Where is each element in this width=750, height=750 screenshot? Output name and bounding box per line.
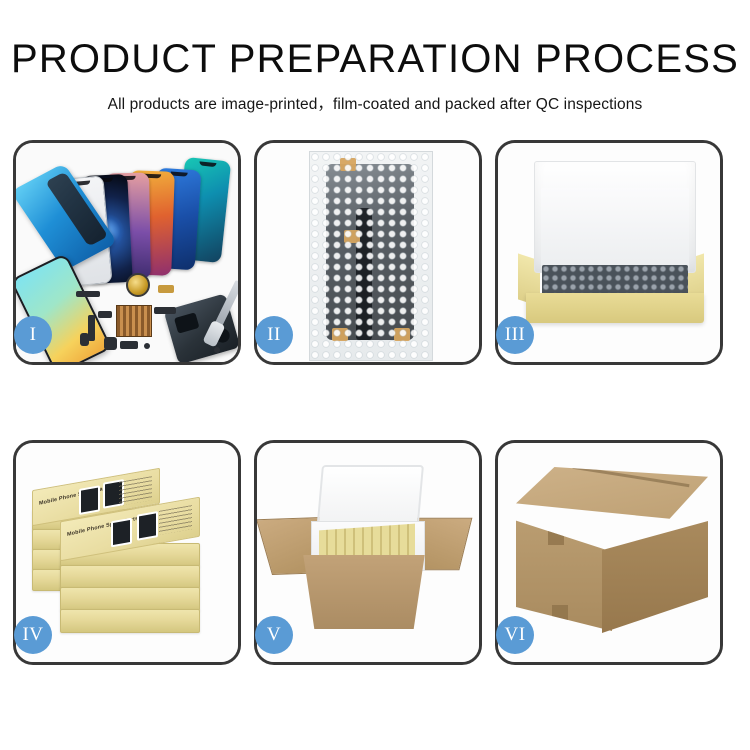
sealed-carton-group [516,467,708,639]
part-flex-cable [154,307,176,314]
open-box-group [512,161,708,339]
stacked-box [60,609,200,633]
box-product-thumbnail [111,518,132,548]
part-small-screw [214,347,220,353]
process-step-panel-1[interactable]: I [13,140,241,365]
step-badge-4: IV [14,616,52,654]
part-connector [76,291,100,297]
part-flex-cable [88,315,95,341]
part-flex-cable [98,311,112,318]
step-badge-6: VI [496,616,534,654]
stacked-box [60,587,200,611]
spare-parts-group [74,271,238,362]
yellow-box-front [526,293,704,323]
carton-left-face [516,511,612,631]
carton-seam [572,466,689,487]
header: PRODUCT PREPARATION PROCESS All products… [0,0,750,114]
speaker-coil-icon [126,273,150,297]
part-gold-contact [158,285,174,293]
process-panel-grid: I II II [13,140,737,668]
box-product-thumbnail [79,485,100,515]
box-spec-lines [119,476,152,506]
phone-notch-icon [199,161,216,167]
bubble-texture [310,152,432,360]
carton-tape-upper [548,525,564,545]
chip-grid-icon [116,305,152,337]
box-spec-lines [159,505,192,535]
step-badge-3: III [496,316,534,354]
process-step-panel-4[interactable]: Mobile Phone Spare Parts Mobile Phone Sp… [13,440,241,665]
carton-top-face [516,467,708,537]
stacked-box [60,565,200,589]
part-camera-module [104,337,117,350]
bubble-wrap-bag [309,151,433,361]
page-title: PRODUCT PREPARATION PROCESS [0,38,750,80]
box-stack-group: Mobile Phone Spare Parts Mobile Phone Sp… [32,465,228,645]
carton-body [295,555,433,629]
box-product-thumbnail [137,511,158,541]
carton-with-foam-group [267,459,471,645]
carton-right-face [602,521,708,633]
page-subtitle: All products are image-printed，film-coat… [0,92,750,114]
part-antenna-strip [120,341,138,349]
step-badge-1: I [14,316,52,354]
carton-tape-lower [552,605,568,625]
process-step-panel-6[interactable]: VI [495,440,723,665]
process-step-panel-2[interactable]: II [254,140,482,365]
part-small-screw [144,343,150,349]
white-foam-lid [534,161,696,273]
bubble-wrapped-contents [542,265,688,295]
part-button [80,333,89,346]
step-badge-5: V [255,616,293,654]
process-step-panel-5[interactable]: V [254,440,482,665]
step-badge-2: II [255,316,293,354]
process-step-panel-3[interactable]: III [495,140,723,365]
